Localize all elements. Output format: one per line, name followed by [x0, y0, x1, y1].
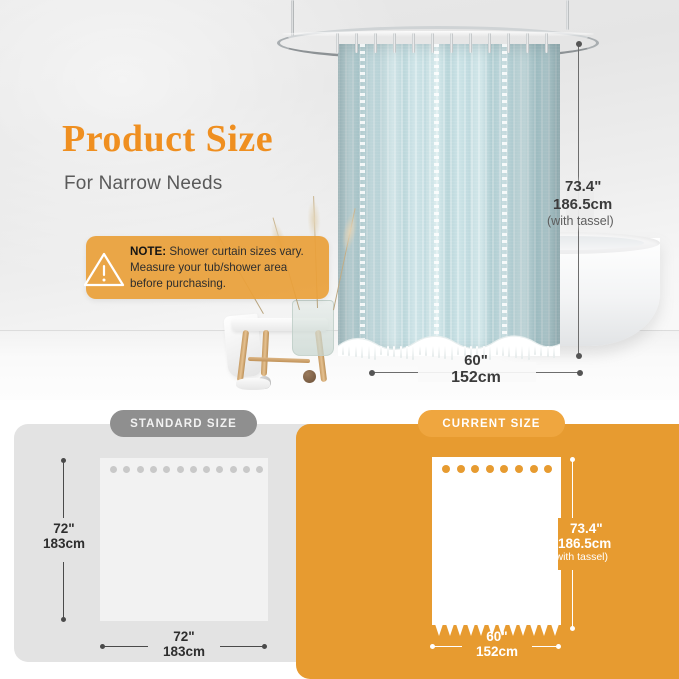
current-height-qualifier: (with tassel)	[552, 552, 648, 564]
bathroom-scene: Product Size For Narrow Needs NOTE: Show…	[0, 0, 679, 400]
decor-sphere-brown	[303, 370, 316, 383]
dimension-endpoint	[576, 353, 582, 359]
decor-soap-dish	[236, 378, 270, 390]
dimension-endpoint	[570, 626, 575, 631]
tassel	[435, 624, 443, 636]
curtain-ring	[507, 33, 510, 53]
tassel	[355, 346, 357, 357]
curtain-ring	[450, 33, 453, 53]
grommet	[177, 466, 184, 473]
curtain-ring	[336, 33, 339, 53]
note-callout: NOTE: Shower curtain sizes vary. Measure…	[86, 236, 329, 299]
shower-curtain	[338, 44, 560, 356]
tassel	[380, 346, 382, 355]
tassel	[446, 624, 454, 636]
standard-size-badge: STANDARD SIZE	[110, 410, 257, 437]
curtain-shading	[338, 44, 560, 356]
current-height-cm: 186.5cm	[558, 536, 648, 551]
current-width-label: 60" 152cm	[457, 629, 537, 660]
curtain-ring	[374, 33, 377, 53]
tassel	[553, 346, 555, 358]
grommet	[442, 465, 450, 473]
current-size-badge: CURRENT SIZE	[418, 410, 565, 437]
grommet	[137, 466, 144, 473]
dimension-endpoint	[430, 644, 435, 649]
dimension-endpoint	[61, 458, 66, 463]
curtain-bead-trim	[360, 44, 365, 356]
standard-width-label: 72" 183cm	[144, 629, 224, 660]
dimension-endpoint	[577, 370, 583, 376]
grommet	[515, 465, 523, 473]
tassel	[387, 346, 389, 356]
dimension-endpoint	[100, 644, 105, 649]
current-height-label: 73.4" 186.5cm (with tassel)	[552, 521, 648, 563]
scene-width-label: 60" 152cm	[406, 352, 546, 388]
grommet	[230, 466, 237, 473]
note-label: NOTE:	[130, 245, 166, 258]
standard-height-label: 72" 183cm	[24, 521, 104, 552]
tassel	[547, 346, 549, 357]
tassel	[400, 346, 402, 358]
current-width-cm: 152cm	[457, 644, 537, 659]
standard-height-inches: 72"	[24, 521, 104, 536]
grommet	[190, 466, 197, 473]
current-curtain-diagram	[432, 457, 561, 625]
tassel	[348, 346, 350, 356]
grommet	[150, 466, 157, 473]
grommet	[486, 465, 494, 473]
rod-support-left	[291, 0, 294, 36]
dimension-endpoint	[556, 644, 561, 649]
grommet	[530, 465, 538, 473]
tassel	[393, 346, 395, 357]
height-qualifier: (with tassel)	[547, 214, 673, 229]
curtain-bead-trim	[434, 44, 439, 356]
current-height-inches: 73.4"	[570, 521, 648, 536]
curtain-ring	[431, 33, 434, 53]
height-cm: 186.5cm	[553, 196, 673, 214]
standard-width-inches: 72"	[144, 629, 224, 644]
dimension-endpoint	[262, 644, 267, 649]
dimension-endpoint	[570, 457, 575, 462]
curtain-bead-trim	[502, 44, 507, 356]
tassel	[368, 346, 370, 359]
height-inches: 73.4"	[565, 178, 673, 196]
grommet	[243, 466, 250, 473]
curtain-ring	[526, 33, 529, 53]
current-width-inches: 60"	[457, 629, 537, 644]
tassel	[374, 346, 376, 360]
standard-curtain-diagram	[100, 458, 268, 621]
curtain-ring	[469, 33, 472, 53]
tassel	[540, 624, 548, 636]
tassel	[551, 624, 559, 636]
scene-height-label: 73.4" 186.5cm (with tassel)	[539, 178, 673, 229]
note-text: NOTE: Shower curtain sizes vary. Measure…	[130, 244, 323, 292]
dimension-endpoint	[576, 41, 582, 47]
warning-triangle-icon	[82, 250, 126, 288]
curtain-ring	[393, 33, 396, 53]
curtain-ring	[545, 33, 548, 53]
width-inches: 60"	[406, 352, 546, 369]
tassel	[342, 346, 344, 355]
dimension-endpoint	[61, 617, 66, 622]
width-cm: 152cm	[406, 369, 546, 387]
standard-height-cm: 183cm	[24, 536, 104, 551]
rod-support-right	[566, 0, 569, 30]
product-size-infographic: Product Size For Narrow Needs NOTE: Show…	[0, 0, 679, 679]
grommet	[457, 465, 465, 473]
dimension-endpoint	[369, 370, 375, 376]
page-title: Product Size	[62, 120, 273, 158]
tassel	[361, 346, 363, 358]
page-subtitle: For Narrow Needs	[64, 173, 222, 195]
curtain-ring	[488, 33, 491, 53]
curtain-ring	[355, 33, 358, 53]
standard-width-cm: 183cm	[144, 644, 224, 659]
grommet	[110, 466, 117, 473]
curtain-ring	[412, 33, 415, 53]
